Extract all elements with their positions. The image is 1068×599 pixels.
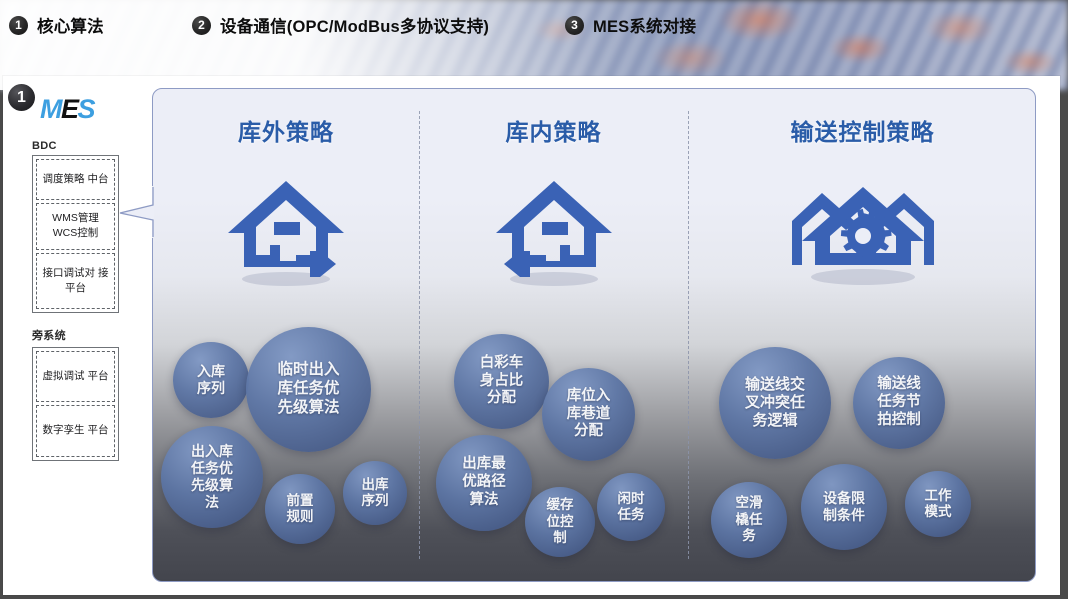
bubble-temporary-inout-task-priority-algorithm[interactable]: 临时出入 库任务优 先级算法: [246, 327, 371, 452]
bubble-line: 务: [736, 528, 763, 544]
header-item-device-communication[interactable]: 2 设备通信(OPC/ModBus多协议支持): [192, 13, 489, 37]
bubble-line: 工作: [925, 488, 952, 504]
bubble-optimal-outbound-path-algorithm[interactable]: 出库最 优路径 算法: [436, 435, 532, 531]
sidebar-cell-line-2: 平台: [87, 370, 108, 382]
bubble-line: 任务节: [877, 394, 921, 412]
header-badge-2: 2: [192, 16, 211, 35]
bubble-line: 规则: [287, 509, 314, 525]
bubble-line: 库巷道: [567, 406, 611, 424]
bubble-line: 先级算法: [277, 399, 339, 418]
icon-container-2: [419, 177, 688, 289]
bubble-buffer-location-control[interactable]: 缓存 位控 制: [525, 487, 595, 557]
sidebar-cell-line-1: WMS管理: [52, 212, 99, 224]
bubble-line: 拍控制: [877, 412, 921, 430]
bubble-line: 算法: [462, 492, 506, 510]
bubble-work-mode[interactable]: 工作 模式: [905, 471, 971, 537]
sidebar-cell-line-2: 中台: [87, 173, 108, 185]
header-item-mes-integration[interactable]: 3 MES系统对接: [565, 13, 696, 37]
bubble-line: 分配: [567, 423, 611, 441]
sidebar-group-side-systems: 虚拟调试 平台 数字孪生 平台: [32, 347, 119, 460]
step-badge-1: 1: [8, 84, 35, 111]
bubble-line: 输送线: [877, 376, 921, 394]
sidebar-cell-scheduling-strategy-platform[interactable]: 调度策略 中台: [36, 159, 115, 200]
sidebar-group-bdc: 调度策略 中台 WMS管理 WCS控制 接口调试对 接平台: [32, 155, 119, 313]
header-badge-3: 3: [565, 16, 584, 35]
sidebar-cell-line-2: WCS控制: [53, 227, 99, 239]
bubble-line: 出入库: [191, 443, 233, 460]
mes-logo-m: M: [40, 94, 61, 124]
top-header: 1 核心算法 2 设备通信(OPC/ModBus多协议支持) 3 MES系统对接: [0, 0, 1068, 50]
header-item-core-algorithm[interactable]: 1 核心算法: [9, 13, 104, 37]
triple-house-gear-icon: [788, 177, 938, 289]
sidebar-cell-line-1: 接口调试对: [43, 267, 96, 279]
bubble-line: 闲时: [618, 491, 645, 507]
sidebar-cell-line-1: 虚拟调试: [43, 370, 85, 382]
bubble-line: 白彩车: [480, 355, 524, 373]
bubble-line: 叉冲突任: [745, 394, 805, 412]
icon-container-3: [688, 177, 1036, 289]
bubble-line: 库任务优: [277, 380, 339, 399]
bubble-line: 临时出入: [277, 361, 339, 380]
bubble-conveyor-task-takt-control[interactable]: 输送线 任务节 拍控制: [853, 357, 945, 449]
sidebar-cell-wms-wcs[interactable]: WMS管理 WCS控制: [36, 203, 115, 249]
bubble-white-color-body-ratio-allocation[interactable]: 白彩车 身占比 分配: [454, 334, 549, 429]
sidebar-cell-line-1: 调度策略: [43, 173, 85, 185]
strategy-panel: 库外策略 库内策略 输送控制策略: [152, 88, 1036, 582]
bubble-outbound-sequence[interactable]: 出库 序列: [343, 461, 407, 525]
bubble-line: 务逻辑: [745, 412, 805, 430]
sidebar-group-title-bdc: BDC: [32, 140, 150, 152]
bubble-line: 出库最: [462, 456, 506, 474]
bubble-line: 制: [547, 530, 574, 546]
bubble-inbound-sequence[interactable]: 入库 序列: [173, 342, 249, 418]
bubble-inout-task-priority-algorithm[interactable]: 出入库 任务优 先级算 法: [161, 426, 263, 528]
bubble-pre-rule[interactable]: 前置 规则: [265, 474, 335, 544]
sidebar-cell-virtual-commissioning-platform[interactable]: 虚拟调试 平台: [36, 351, 115, 402]
column-heading-inbound-strategy: 库内策略: [419, 113, 688, 147]
left-sidebar: BDC 调度策略 中台 WMS管理 WCS控制 接口调试对 接平台 旁系统 虚拟…: [0, 140, 150, 461]
bubble-equipment-constraint-conditions[interactable]: 设备限 制条件: [801, 464, 887, 550]
bubble-line: 橇任: [736, 512, 763, 528]
bubble-line: 任务: [618, 507, 645, 523]
bubble-empty-skid-task[interactable]: 空滑 橇任 务: [711, 482, 787, 558]
mes-logo-e: E: [61, 94, 78, 124]
sidebar-cell-line-2: 平台: [87, 424, 108, 436]
bubble-conveyor-crossing-conflict-task-logic[interactable]: 输送线交 叉冲突任 务逻辑: [719, 347, 831, 459]
bubble-line: 序列: [197, 380, 225, 397]
bubble-line: 前置: [287, 493, 314, 509]
house-outbound-arrow-icon: [224, 177, 348, 289]
bubble-line: 出库: [362, 477, 389, 493]
bubble-storage-location-lane-allocation[interactable]: 库位入 库巷道 分配: [542, 368, 635, 461]
header-label-2: 设备通信(OPC/ModBus多协议支持): [220, 13, 489, 37]
sidebar-group-title-side-systems: 旁系统: [32, 327, 150, 343]
bubble-line: 身占比: [480, 373, 524, 391]
bubble-line: 法: [191, 494, 233, 511]
bubble-line: 库位入: [567, 388, 611, 406]
bubble-line: 入库: [197, 363, 225, 380]
bubble-line: 先级算: [191, 477, 233, 494]
bubble-line: 缓存: [547, 497, 574, 513]
column-heading-conveyor-control-strategy: 输送控制策略: [688, 113, 1036, 147]
header-badge-1: 1: [9, 16, 28, 35]
icon-container-1: [153, 177, 419, 289]
bubble-line: 任务优: [191, 460, 233, 477]
sidebar-cell-digital-twin-platform[interactable]: 数字孪生 平台: [36, 405, 115, 456]
bubble-idle-task[interactable]: 闲时 任务: [597, 473, 665, 541]
house-inbound-arrow-icon: [492, 177, 616, 289]
bubble-line: 输送线交: [745, 376, 805, 394]
bubble-line: 制条件: [823, 507, 865, 524]
bubble-line: 分配: [480, 390, 524, 408]
sidebar-spacer: [0, 313, 150, 327]
bubble-line: 模式: [925, 504, 952, 520]
bubble-line: 设备限: [823, 490, 865, 507]
header-label-1: 核心算法: [37, 13, 104, 37]
sidebar-cell-line-1: 数字孪生: [43, 424, 85, 436]
bubble-line: 空滑: [736, 495, 763, 511]
header-label-3: MES系统对接: [593, 13, 696, 37]
bubble-line: 位控: [547, 514, 574, 530]
mes-logo: MES: [40, 96, 94, 123]
column-heading-outbound-strategy: 库外策略: [153, 113, 419, 147]
bubble-line: 优路径: [462, 474, 506, 492]
sidebar-cell-interface-debug-platform[interactable]: 接口调试对 接平台: [36, 253, 115, 309]
mes-logo-s: S: [78, 94, 95, 124]
bubble-line: 序列: [362, 493, 389, 509]
